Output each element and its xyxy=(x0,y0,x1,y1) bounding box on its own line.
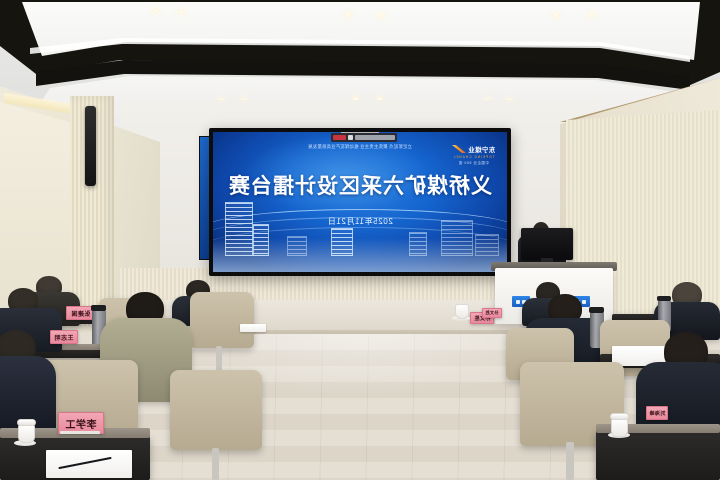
nameplate: 孙文胜 xyxy=(482,308,502,318)
ceiling-downlight xyxy=(152,8,159,13)
tea-cup-lid xyxy=(17,419,36,426)
chair[interactable] xyxy=(190,292,254,348)
tea-cup xyxy=(18,424,35,443)
nameplate-text: 孙文胜 xyxy=(485,310,499,316)
tea-cup xyxy=(611,418,628,437)
logo-english-name: TOPKING CHANEL xyxy=(452,155,495,159)
chair-leg xyxy=(566,442,574,480)
nameplate-text: 李学工 xyxy=(65,416,97,431)
thermos-cap xyxy=(91,305,106,311)
toolbar-controls[interactable] xyxy=(355,135,395,140)
screen-bottom-gradient xyxy=(213,238,507,272)
chair-leg xyxy=(212,448,219,480)
chair[interactable] xyxy=(170,370,262,450)
logo-mark-icon xyxy=(452,145,466,153)
screen-date: 2025年11月21日 xyxy=(213,216,507,227)
ceiling-downlight xyxy=(588,12,595,17)
led-screen[interactable]: 立足新起点 聚焦主责主业 推动煤炭产业高质量发展 义桥煤矿六采区设计擂台赛 20… xyxy=(213,132,507,272)
ceiling-downlight xyxy=(345,12,352,17)
ceiling-downlight xyxy=(378,13,385,18)
presentation-toolbar[interactable] xyxy=(331,133,397,142)
nameplate-text: 刘海峰 xyxy=(649,410,666,417)
nameplate-front-right: 刘海峰 xyxy=(646,406,668,420)
screen-title: 义桥煤矿六采区设计擂台赛 xyxy=(213,170,507,200)
notebook xyxy=(46,450,132,478)
ceiling-downlight xyxy=(552,13,559,18)
tea-cup-lid xyxy=(610,413,629,420)
menu-icon[interactable] xyxy=(348,135,353,140)
logo-row: 东宁煤业 xyxy=(452,144,495,154)
wall-speaker xyxy=(85,106,96,186)
ceiling-downlight xyxy=(178,9,185,14)
conference-room-photo: 立足新起点 聚焦主责主业 推动煤炭产业高质量发展 义桥煤矿六采区设计擂台赛 20… xyxy=(0,0,720,480)
nameplate-text: 张建国 xyxy=(71,309,91,318)
logo-chinese-name: 东宁煤业 xyxy=(468,144,495,154)
record-icon[interactable] xyxy=(333,135,346,140)
podium-monitor xyxy=(521,228,573,260)
thermos-cap xyxy=(657,296,671,301)
nameplate: 王志明 xyxy=(50,330,78,344)
notebook xyxy=(240,324,266,332)
company-logo: 东宁煤业 TOPKING CHANEL 中国企业 500 强 xyxy=(452,144,495,165)
nameplate-text: 王志明 xyxy=(54,333,74,342)
nameplate-stand xyxy=(60,431,100,434)
logo-subtitle: 中国企业 500 强 xyxy=(452,160,495,165)
tea-cup xyxy=(455,304,469,319)
thermos-cap xyxy=(589,307,604,313)
